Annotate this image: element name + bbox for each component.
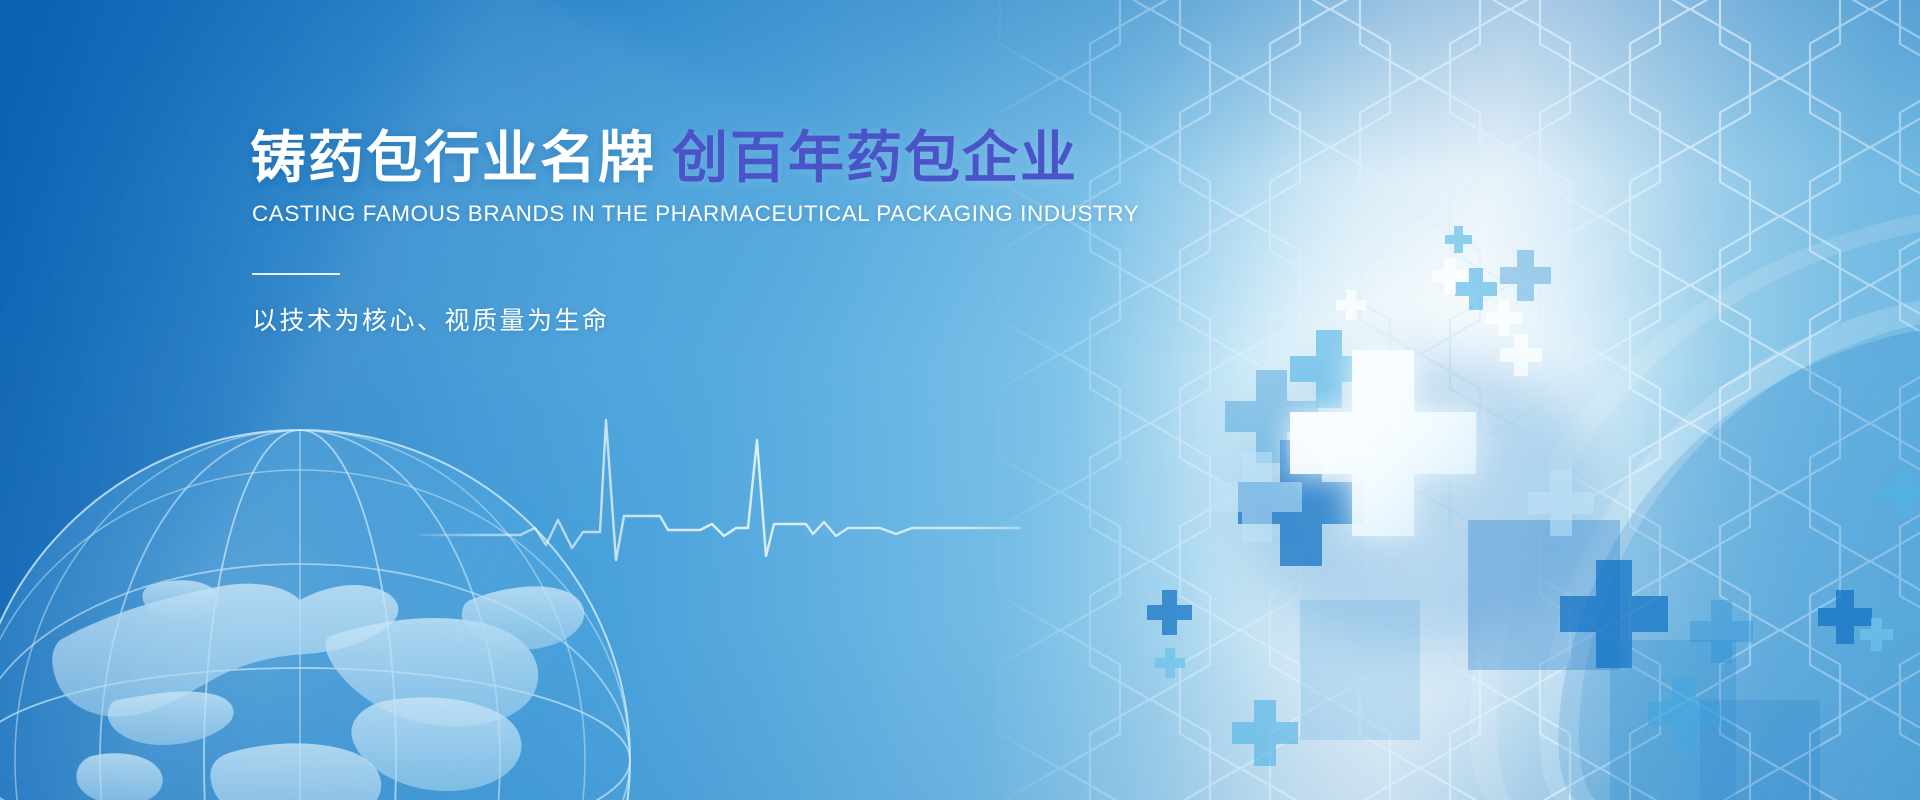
hero-banner: 铸药包行业名牌创百年药包企业 CASTING FAMOUS BRANDS IN …	[0, 0, 1920, 800]
banner-text-block: 铸药包行业名牌创百年药包企业 CASTING FAMOUS BRANDS IN …	[250, 128, 1150, 337]
page-title: 铸药包行业名牌创百年药包企业	[250, 128, 1150, 187]
banner-tagline: 以技术为核心、视质量为生命	[252, 301, 1150, 337]
headline-primary: 铸药包行业名牌	[250, 126, 656, 189]
headline-subtitle-english: CASTING FAMOUS BRANDS IN THE PHARMACEUTI…	[252, 201, 1150, 227]
divider-rule	[252, 273, 340, 275]
headline-secondary: 创百年药包企业	[672, 126, 1078, 189]
medical-cross-cluster	[0, 0, 1920, 800]
